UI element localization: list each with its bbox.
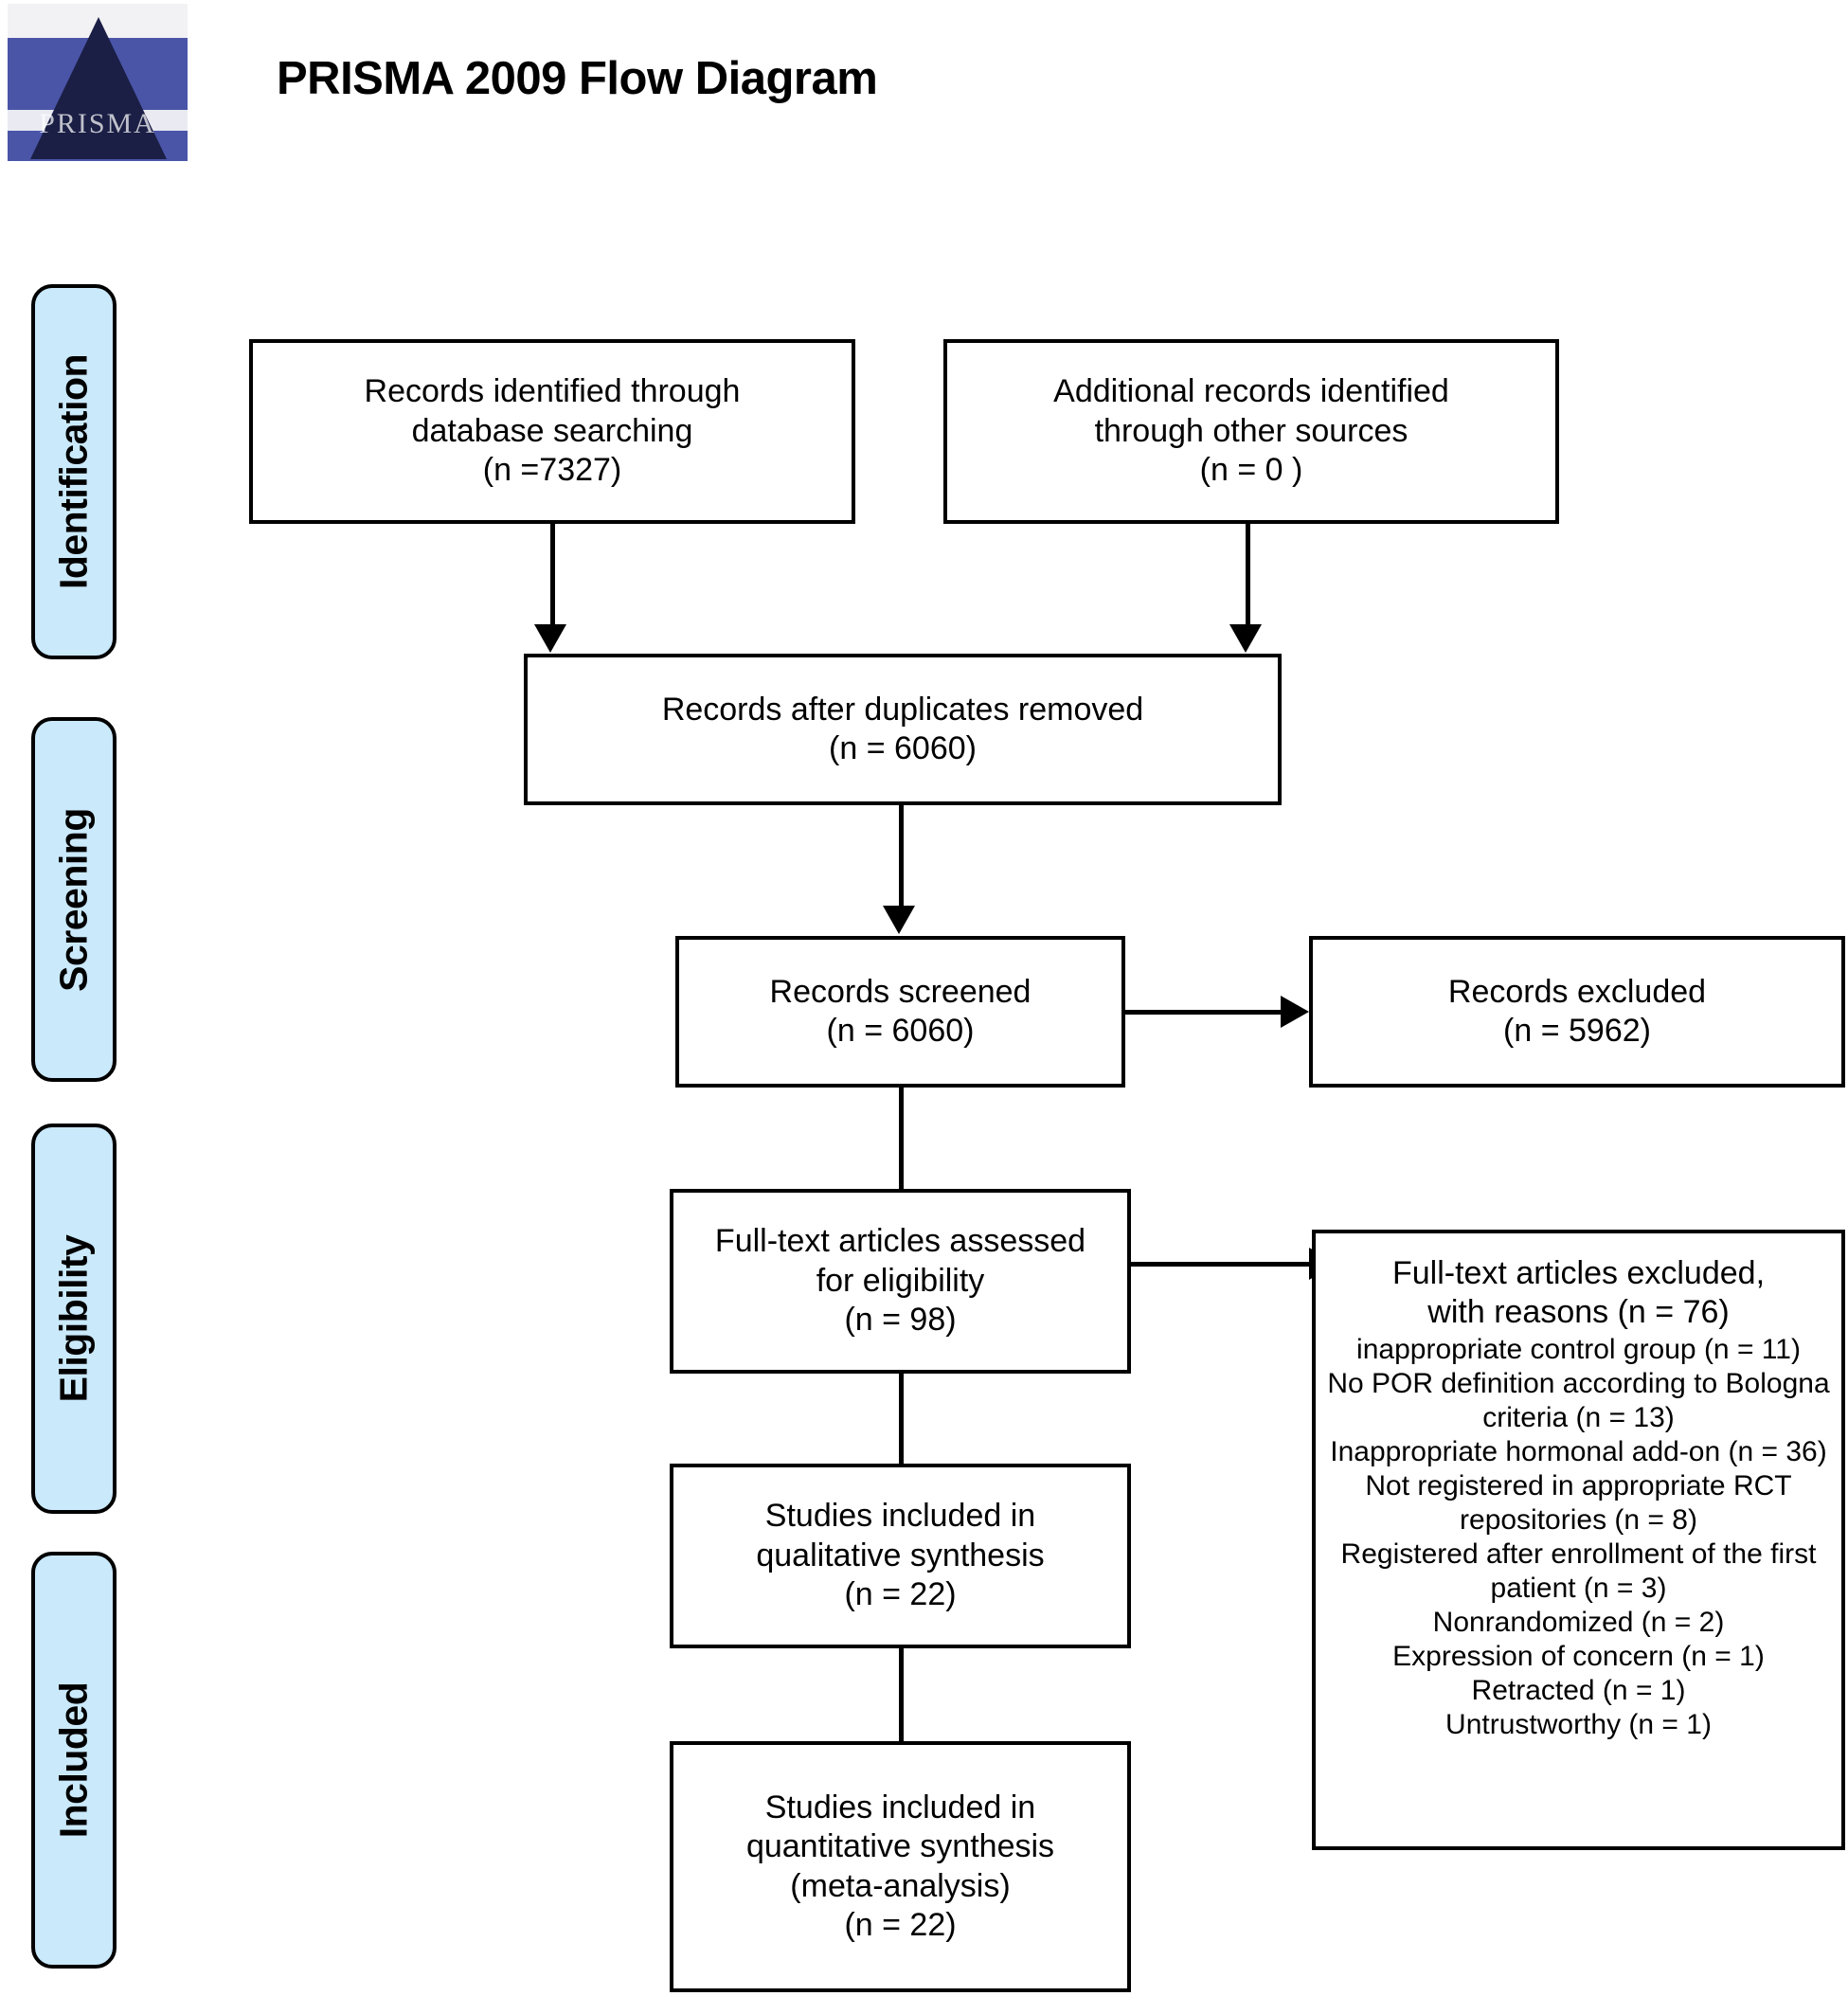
page-title: PRISMA 2009 Flow Diagram [277, 52, 877, 105]
excluded-reason-2: No POR definition according to Bologna c… [1325, 1367, 1832, 1435]
stage-eligibility: Eligibility [31, 1124, 117, 1514]
excluded-reason-4: Not registered in appropriate RCT reposi… [1325, 1469, 1832, 1537]
box-records-excluded-text: Records excluded (n = 5962) [1313, 973, 1841, 1052]
stage-screening-label: Screening [52, 808, 97, 992]
box-records-excluded: Records excluded (n = 5962) [1309, 936, 1845, 1088]
box-studies-quantitative-synthesis-text: Studies included in quantitative synthes… [673, 1789, 1127, 1946]
line-1: Records screened [689, 973, 1112, 1012]
line-1: Records excluded [1322, 973, 1832, 1012]
box-fulltext-excluded-with-reasons: Full-text articles excluded, with reason… [1312, 1230, 1845, 1850]
arrowhead-db-to-duplicates [534, 624, 566, 653]
connector-fulltext-to-excluded [1131, 1262, 1311, 1267]
stage-eligibility-label: Eligibility [52, 1235, 97, 1403]
excluded-reason-7: Expression of concern (n = 1) [1325, 1640, 1832, 1674]
line-4: (n = 22) [683, 1906, 1118, 1945]
excluded-reason-8: Retracted (n = 1) [1325, 1674, 1832, 1708]
connector-qualitative-to-quantitative [899, 1648, 904, 1743]
excluded-title-line-1: Full-text articles excluded, [1325, 1254, 1832, 1293]
stage-identification: Identification [31, 284, 117, 659]
stage-screening: Screening [31, 717, 117, 1082]
line-1: Studies included in [683, 1497, 1118, 1536]
line-1: Studies included in [683, 1789, 1118, 1827]
line-3: (n =7327) [262, 451, 842, 490]
excluded-reason-1: inappropriate control group (n = 11) [1325, 1333, 1832, 1367]
line-1: Records identified through [262, 372, 842, 411]
connector-screened-to-excluded [1125, 1010, 1283, 1015]
line-3: (n = 0 ) [957, 451, 1546, 490]
connector-fulltext-to-qualitative [899, 1374, 904, 1466]
box-records-identified-database: Records identified through database sear… [249, 339, 855, 524]
box-studies-qualitative-synthesis: Studies included in qualitative synthesi… [670, 1464, 1131, 1648]
line-2: qualitative synthesis [683, 1537, 1118, 1575]
stage-included: Included [31, 1552, 117, 1969]
excluded-reason-6: Nonrandomized (n = 2) [1325, 1606, 1832, 1640]
connector-db-to-duplicates [550, 524, 555, 636]
box-additional-records-other-sources: Additional records identified through ot… [943, 339, 1559, 524]
connector-duplicates-to-screened [899, 805, 904, 908]
arrowhead-duplicates-to-screened [883, 906, 915, 934]
prisma-flow-diagram: PRISMA PRISMA 2009 Flow Diagram Identifi… [0, 0, 1848, 1996]
box-records-identified-database-text: Records identified through database sear… [253, 372, 852, 490]
box-studies-quantitative-synthesis: Studies included in quantitative synthes… [670, 1741, 1131, 1992]
line-3: (n = 98) [683, 1301, 1118, 1340]
line-1: Additional records identified [957, 372, 1546, 411]
excluded-reason-9: Untrustworthy (n = 1) [1325, 1708, 1832, 1742]
logo-wordmark: PRISMA [8, 108, 188, 140]
stage-identification-label: Identification [52, 354, 97, 589]
line-1: Full-text articles assessed [683, 1222, 1118, 1261]
line-2: (n = 6060) [689, 1012, 1112, 1051]
line-2: database searching [262, 412, 842, 451]
box-records-after-duplicates-removed-text: Records after duplicates removed (n = 60… [528, 691, 1278, 769]
box-records-screened-text: Records screened (n = 6060) [679, 973, 1121, 1052]
box-records-screened: Records screened (n = 6060) [675, 936, 1125, 1088]
arrowhead-other-to-duplicates [1229, 624, 1262, 653]
arrowhead-screened-to-excluded [1281, 996, 1309, 1028]
line-2: through other sources [957, 412, 1546, 451]
box-fulltext-assessed-text: Full-text articles assessed for eligibil… [673, 1222, 1127, 1340]
line-3: (meta-analysis) [683, 1867, 1118, 1906]
excluded-reason-5: Registered after enrollment of the first… [1325, 1537, 1832, 1606]
box-records-after-duplicates-removed: Records after duplicates removed (n = 60… [524, 654, 1282, 805]
box-fulltext-excluded-text: Full-text articles excluded, with reason… [1316, 1233, 1841, 1742]
line-2: for eligibility [683, 1262, 1118, 1301]
excluded-reason-3: Inappropriate hormonal add-on (n = 36) [1325, 1435, 1832, 1469]
connector-screened-to-fulltext [899, 1088, 904, 1192]
line-2: (n = 6060) [537, 729, 1268, 768]
line-3: (n = 22) [683, 1575, 1118, 1614]
box-additional-records-other-sources-text: Additional records identified through ot… [947, 372, 1555, 490]
prisma-logo: PRISMA [8, 4, 188, 161]
excluded-title-line-2: with reasons (n = 76) [1325, 1293, 1832, 1332]
connector-other-to-duplicates [1246, 524, 1250, 636]
box-studies-qualitative-synthesis-text: Studies included in qualitative synthesi… [673, 1497, 1127, 1614]
line-2: quantitative synthesis [683, 1827, 1118, 1866]
line-1: Records after duplicates removed [537, 691, 1268, 729]
box-fulltext-assessed: Full-text articles assessed for eligibil… [670, 1189, 1131, 1374]
line-2: (n = 5962) [1322, 1012, 1832, 1051]
stage-included-label: Included [52, 1682, 97, 1839]
